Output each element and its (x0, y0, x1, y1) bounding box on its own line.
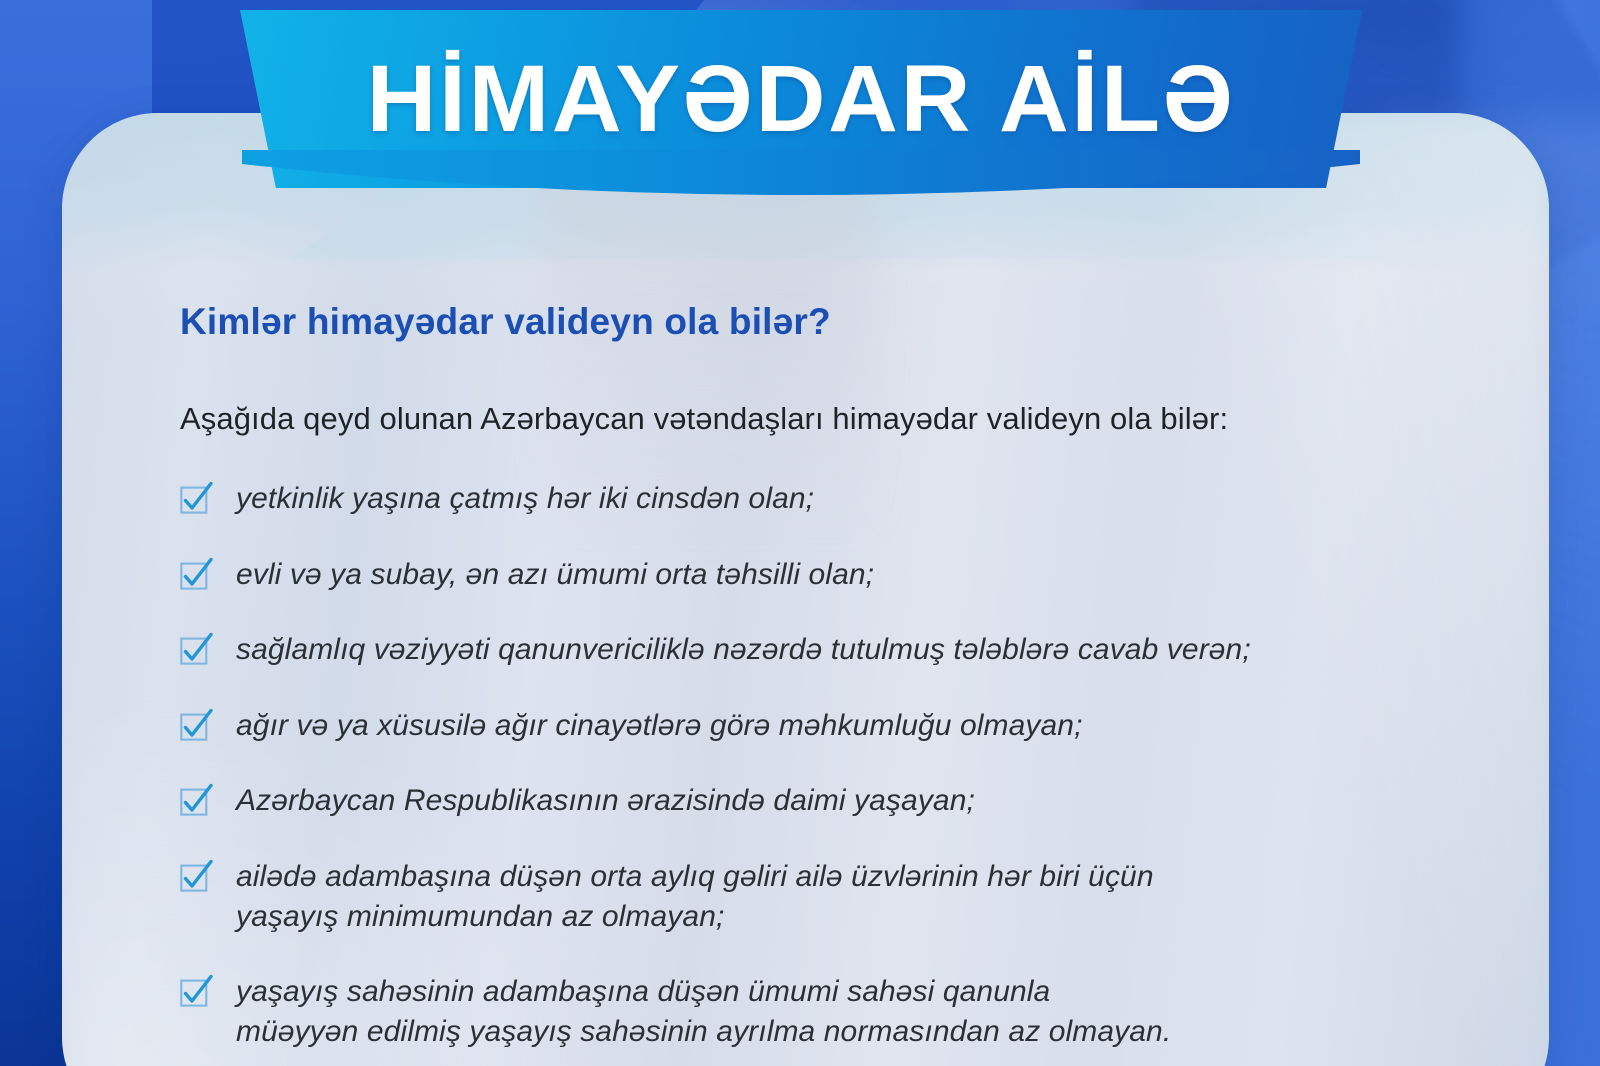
list-item-line2: müəyyən edilmiş yaşayış sahəsinin ayrılm… (236, 1012, 1171, 1052)
list-item-text: ağır və ya xüsusilə ağır cinayətlərə gör… (236, 706, 1083, 746)
list-item-text: ailədə adambaşına düşən orta aylıq gəlir… (236, 857, 1154, 936)
checkbox-checked-icon (180, 485, 210, 515)
banner-title-text: HİMAYƏDAR AİLƏ (229, 10, 1373, 188)
list-item-text: sağlamlıq vəziyyəti qanunvericiliklə nəz… (236, 630, 1251, 670)
list-item-text: yaşayış sahəsinin adambaşına düşən ümumi… (236, 972, 1171, 1051)
list-item: ailədə adambaşına düşən orta aylıq gəlir… (180, 857, 1500, 936)
intro-paragraph: Aşağıda qeyd olunan Azərbaycan vətəndaşl… (180, 401, 1500, 437)
list-item-line1: sağlamlıq vəziyyəti qanunvericiliklə nəz… (236, 633, 1251, 666)
content-card: Kimlər himayədar valideyn ola bilər? Aşa… (62, 113, 1549, 1066)
checkbox-checked-icon (180, 712, 210, 742)
list-item: Azərbaycan Respublikasının ərazisində da… (180, 781, 1500, 821)
poster-root: Kimlər himayədar valideyn ola bilər? Aşa… (0, 0, 1600, 1066)
list-item-text: Azərbaycan Respublikasının ərazisində da… (236, 781, 975, 821)
checkbox-checked-icon (180, 787, 210, 817)
checkbox-checked-icon (180, 561, 210, 591)
list-item-line1: Azərbaycan Respublikasının ərazisində da… (236, 784, 975, 817)
list-item-line1: ailədə adambaşına düşən orta aylıq gəlir… (236, 860, 1154, 893)
checkbox-checked-icon (180, 978, 210, 1008)
list-item: evli və ya subay, ən azı ümumi orta təhs… (180, 555, 1500, 595)
list-item: ağır və ya xüsusilə ağır cinayətlərə gör… (180, 706, 1500, 746)
page-title: Kimlər himayədar valideyn ola bilər? (180, 301, 1500, 343)
list-item-text: yetkinlik yaşına çatmış hər iki cinsdən … (236, 479, 814, 519)
list-item-line1: yetkinlik yaşına çatmış hər iki cinsdən … (236, 482, 814, 515)
card-content: Kimlər himayədar valideyn ola bilər? Aşa… (180, 301, 1500, 1066)
list-item-text: evli və ya subay, ən azı ümumi orta təhs… (236, 555, 874, 595)
list-item-line1: yaşayış sahəsinin adambaşına düşən ümumi… (236, 975, 1050, 1008)
list-item: yetkinlik yaşına çatmış hər iki cinsdən … (180, 479, 1500, 519)
checkbox-checked-icon (180, 863, 210, 893)
checkbox-checked-icon (180, 636, 210, 666)
list-item-line1: ağır və ya xüsusilə ağır cinayətlərə gör… (236, 709, 1083, 742)
list-item: yaşayış sahəsinin adambaşına düşən ümumi… (180, 972, 1500, 1051)
list-item-line1: evli və ya subay, ən azı ümumi orta təhs… (236, 558, 874, 591)
list-item: sağlamlıq vəziyyəti qanunvericiliklə nəz… (180, 630, 1500, 670)
list-item-line2: yaşayış minimumundan az olmayan; (236, 897, 1154, 937)
eligibility-list: yetkinlik yaşına çatmış hər iki cinsdən … (180, 479, 1500, 1051)
